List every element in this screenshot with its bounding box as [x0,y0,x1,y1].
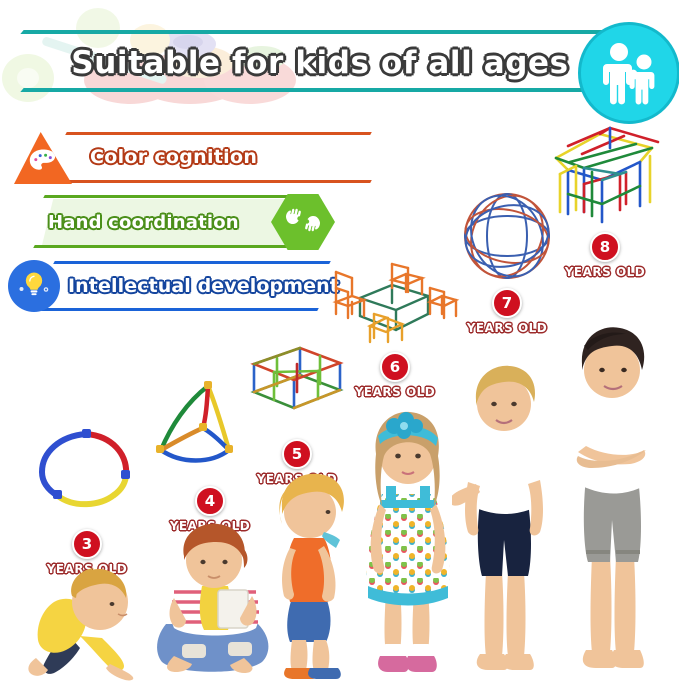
feature-color-cognition: Color cognition [14,130,374,186]
kid-photo-girl-polka-dress [352,386,464,682]
feature-intellectual-development: Intellectual development [8,258,338,314]
page-title: Suitable for kids of all ages [60,38,580,88]
feature-hand-coordination: Hand coordination [34,194,354,250]
age-number-badge: 7 [492,288,522,318]
kid-photo-boy-white-tee [452,356,556,682]
kid-photo-toddler-sitting [146,516,282,682]
feature-icon-shape-triangle [14,132,72,184]
lightbulb-icon [17,267,51,305]
age-number-badge: 6 [380,352,410,382]
age-number-badge: 4 [195,486,225,516]
two-hands-icon [283,205,323,239]
kid-photo-boy-arms-crossed [556,318,666,682]
adult-and-child-icon [578,22,679,124]
feature-bottom-rule [41,308,319,311]
ring-build-model [22,420,152,529]
house-build-model [540,118,670,232]
age-number-badge: 5 [282,439,312,469]
kid-photo-child-standing [264,470,356,682]
feature-icon-shape-circle [8,260,60,312]
product-infographic: Suitable for kids of all ages [0,0,679,682]
age-unit-label: YEARS OLD [540,265,670,279]
feature-bottom-rule [53,180,372,183]
furniture-build-model [330,258,460,352]
feature-top-rule [53,261,331,264]
kid-photo-toddler-crawling [14,540,164,682]
feature-bottom-rule [33,245,300,248]
feature-label: Hand coordination [48,206,278,238]
age-number-badge: 8 [590,232,620,262]
feature-label: Intellectual development [68,269,336,303]
feature-top-rule [65,132,372,135]
age-unit-label: YEARS OLD [442,321,572,335]
feature-label: Color cognition [90,140,355,174]
age-group-8: 8 YEARS OLD [540,118,670,279]
paint-palette-icon [28,148,58,178]
age-group-6: 6 YEARS OLD [330,258,460,399]
feature-top-rule [43,195,310,198]
header-banner: Suitable for kids of all ages [0,0,679,118]
